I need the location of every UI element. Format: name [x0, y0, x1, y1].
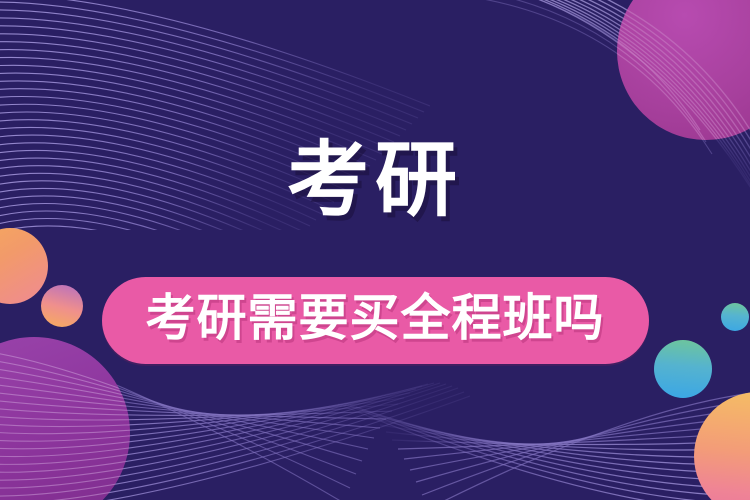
subtitle-pill: 考研需要买全程班吗 — [102, 277, 649, 364]
subtitle-pill-container: 考研需要买全程班吗 — [0, 277, 750, 364]
promo-banner: 考研 考研需要买全程班吗 — [0, 0, 750, 500]
line-overlay-purple-circle — [0, 0, 750, 500]
subtitle-text: 考研需要买全程班吗 — [146, 291, 605, 346]
page-title: 考研 — [0, 140, 750, 222]
